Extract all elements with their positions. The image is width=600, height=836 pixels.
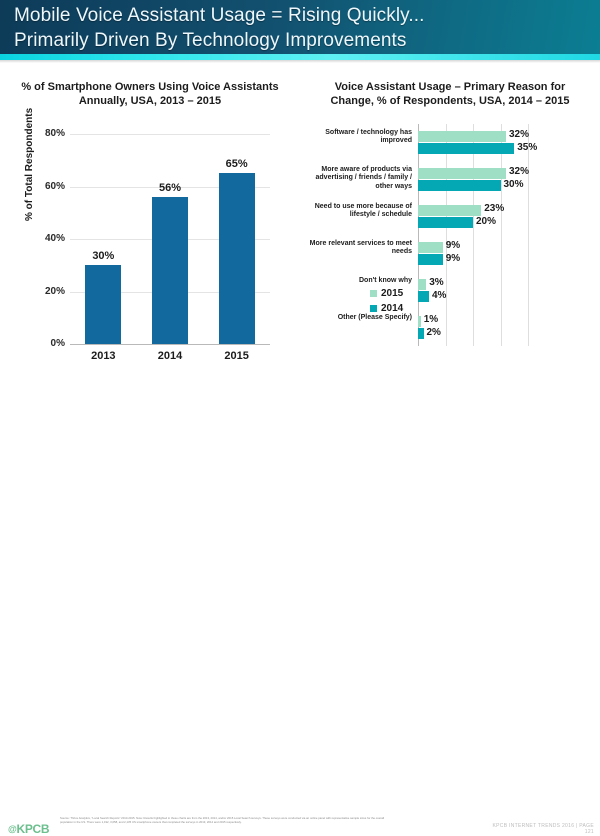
- right-chart-bar: [418, 131, 506, 142]
- left-chart-x-tick: 2014: [140, 350, 200, 362]
- right-chart-category-label: Don't know why: [300, 277, 412, 286]
- right-chart-bar-value: 4%: [432, 290, 446, 301]
- slide-title-line-2: Primarily Driven By Technology Improveme…: [14, 28, 600, 53]
- left-chart-plot-area: 0%20%40%60%80%30%201356%201465%2015: [70, 134, 270, 344]
- source-footnote: Source: Thrive Analytics, "Local Search …: [60, 817, 390, 824]
- left-chart-bar: [85, 265, 121, 344]
- right-chart-legend-item: 2015: [370, 288, 403, 299]
- right-chart-category-group: Other (Please Specify)1%2%: [418, 309, 598, 346]
- left-chart-gridline: [70, 134, 270, 135]
- right-chart-bar: [418, 180, 501, 191]
- left-chart-y-tick: 20%: [25, 286, 65, 297]
- right-chart-category-label: More aware of products via advertising /…: [300, 166, 412, 192]
- right-chart-bar: [418, 242, 443, 253]
- right-chart-category-group: Software / technology has improved32%35%: [418, 124, 598, 161]
- left-chart-gridline: [70, 344, 270, 345]
- left-chart-y-tick: 80%: [25, 128, 65, 139]
- kpcb-logo-text: KPCB: [16, 822, 49, 836]
- header-stripe-shadow: [0, 60, 600, 63]
- left-chart-panel: % of Smartphone Owners Using Voice Assis…: [0, 66, 300, 416]
- legend-swatch-icon: [370, 290, 377, 297]
- right-chart-category-label: Software / technology has improved: [300, 129, 412, 146]
- left-chart-title: % of Smartphone Owners Using Voice Assis…: [12, 80, 288, 108]
- right-bar-chart: Software / technology has improved32%35%…: [300, 116, 600, 416]
- right-chart-plot-area: Software / technology has improved32%35%…: [418, 124, 528, 346]
- right-chart-legend-label: 2015: [381, 288, 403, 299]
- right-chart-bar-value: 23%: [484, 203, 504, 214]
- right-chart-legend-item: 2014: [370, 303, 403, 314]
- left-bar-chart: % of Total Respondents 0%20%40%60%80%30%…: [0, 116, 300, 416]
- left-chart-x-tick: 2015: [207, 350, 267, 362]
- right-chart-bar-value: 20%: [476, 216, 496, 227]
- right-chart-bar-value: 35%: [517, 142, 537, 153]
- left-chart-bar-value: 65%: [212, 158, 262, 170]
- left-chart-y-tick: 0%: [25, 338, 65, 349]
- left-chart-bar: [219, 173, 255, 344]
- right-chart-bar: [418, 205, 481, 216]
- left-chart-bar: [152, 197, 188, 344]
- right-chart-bar-value: 9%: [446, 240, 460, 251]
- kpcb-logo: @KPCB: [8, 822, 49, 836]
- legend-swatch-icon: [370, 305, 377, 312]
- right-chart-bar: [418, 291, 429, 302]
- right-chart-bar-value: 30%: [504, 179, 524, 190]
- left-chart-bar-value: 30%: [78, 250, 128, 262]
- right-chart-category-group: More aware of products via advertising /…: [418, 161, 598, 198]
- right-chart-category-group: Don't know why3%4%: [418, 272, 598, 309]
- right-chart-category-label: More relevant services to meet needs: [300, 240, 412, 257]
- right-chart-legend: 20152014: [370, 288, 403, 318]
- left-chart-bar-value: 56%: [145, 182, 195, 194]
- left-chart-y-tick: 40%: [25, 233, 65, 244]
- footer-meta: KPCB INTERNET TRENDS 2016 | PAGE 121: [493, 823, 594, 835]
- right-chart-bar: [418, 143, 514, 154]
- right-chart-bar: [418, 279, 426, 290]
- right-chart-category-label: Need to use more because of lifestyle / …: [300, 203, 412, 220]
- slide-footer: @KPCB Source: Thrive Analytics, "Local S…: [0, 404, 600, 446]
- footer-report-label: KPCB INTERNET TRENDS 2016 | PAGE: [493, 823, 594, 829]
- right-chart-title: Voice Assistant Usage – Primary Reason f…: [312, 80, 588, 108]
- right-chart-legend-label: 2014: [381, 303, 403, 314]
- slide-header: Mobile Voice Assistant Usage = Rising Qu…: [0, 0, 600, 54]
- right-chart-category-group: Need to use more because of lifestyle / …: [418, 198, 598, 235]
- right-chart-bar: [418, 316, 421, 327]
- right-chart-bar-value: 32%: [509, 129, 529, 140]
- right-chart-bar-value: 32%: [509, 166, 529, 177]
- left-chart-x-tick: 2013: [73, 350, 133, 362]
- right-chart-bar: [418, 328, 424, 339]
- footer-page-number: 121: [493, 829, 594, 835]
- right-chart-bar: [418, 254, 443, 265]
- right-chart-bar-value: 3%: [429, 277, 443, 288]
- left-chart-y-axis-label: % of Total Respondents: [24, 108, 35, 221]
- slide-title-line-1: Mobile Voice Assistant Usage = Rising Qu…: [14, 3, 600, 28]
- left-chart-y-tick: 60%: [25, 181, 65, 192]
- right-chart-bar-value: 2%: [427, 327, 441, 338]
- right-chart-bar-value: 9%: [446, 253, 460, 264]
- right-chart-panel: Voice Assistant Usage – Primary Reason f…: [300, 66, 600, 416]
- right-chart-bar-value: 1%: [424, 314, 438, 325]
- right-chart-bar: [418, 168, 506, 179]
- right-chart-bar: [418, 217, 473, 228]
- right-chart-category-group: More relevant services to meet needs9%9%: [418, 235, 598, 272]
- at-icon: @: [8, 824, 16, 834]
